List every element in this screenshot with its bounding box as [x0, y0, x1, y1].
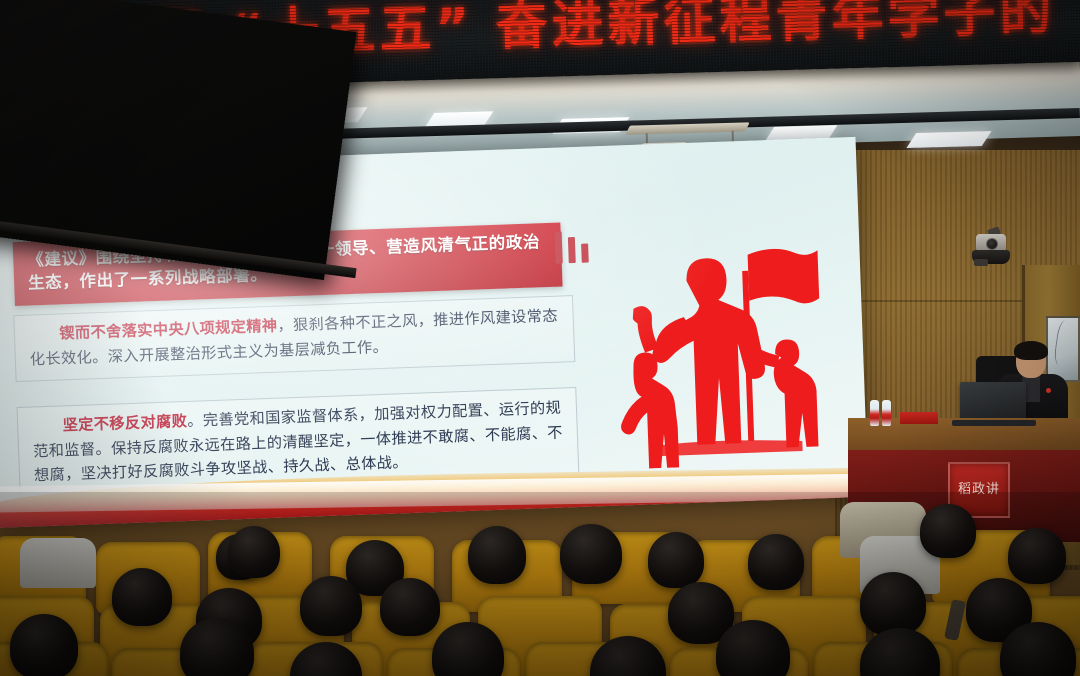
paragraph-2-highlight: 坚定不移反对腐败	[62, 412, 187, 434]
desk-nameplate	[900, 412, 938, 424]
paragraph-1-highlight: 锲而不舍落实中央八项规定精神	[59, 317, 278, 343]
conference-camera-icon	[970, 228, 1012, 272]
slide-paragraph-block: 锲而不舍落实中央八项规定精神，狠刹各种不正之风，推进作风建设常态化长效化。深入开…	[13, 295, 575, 382]
ceiling-light-panel	[906, 131, 991, 148]
lecture-hall-photo: 正 “十五五” 奋进新征程青年学子的 坚持和加强党的全面领导 《建议》围绕坚持和…	[0, 0, 1080, 676]
water-bottle	[882, 400, 891, 426]
red-silhouette-figures-with-flag-icon	[585, 234, 843, 471]
audience-seating	[0, 492, 1080, 676]
water-bottle	[870, 400, 879, 426]
audience-shading	[0, 492, 1080, 676]
paragraph-2-rest: 。完善党和国家监督体系，加强对权力配置、运行的规范和监督。保持反腐败永远在路上的…	[33, 399, 563, 485]
slide-paragraph-1: 锲而不舍落实中央八项规定精神，狠刹各种不正之风，推进作风建设常态化长效化。深入开…	[29, 304, 560, 372]
laptop-base	[952, 420, 1036, 426]
